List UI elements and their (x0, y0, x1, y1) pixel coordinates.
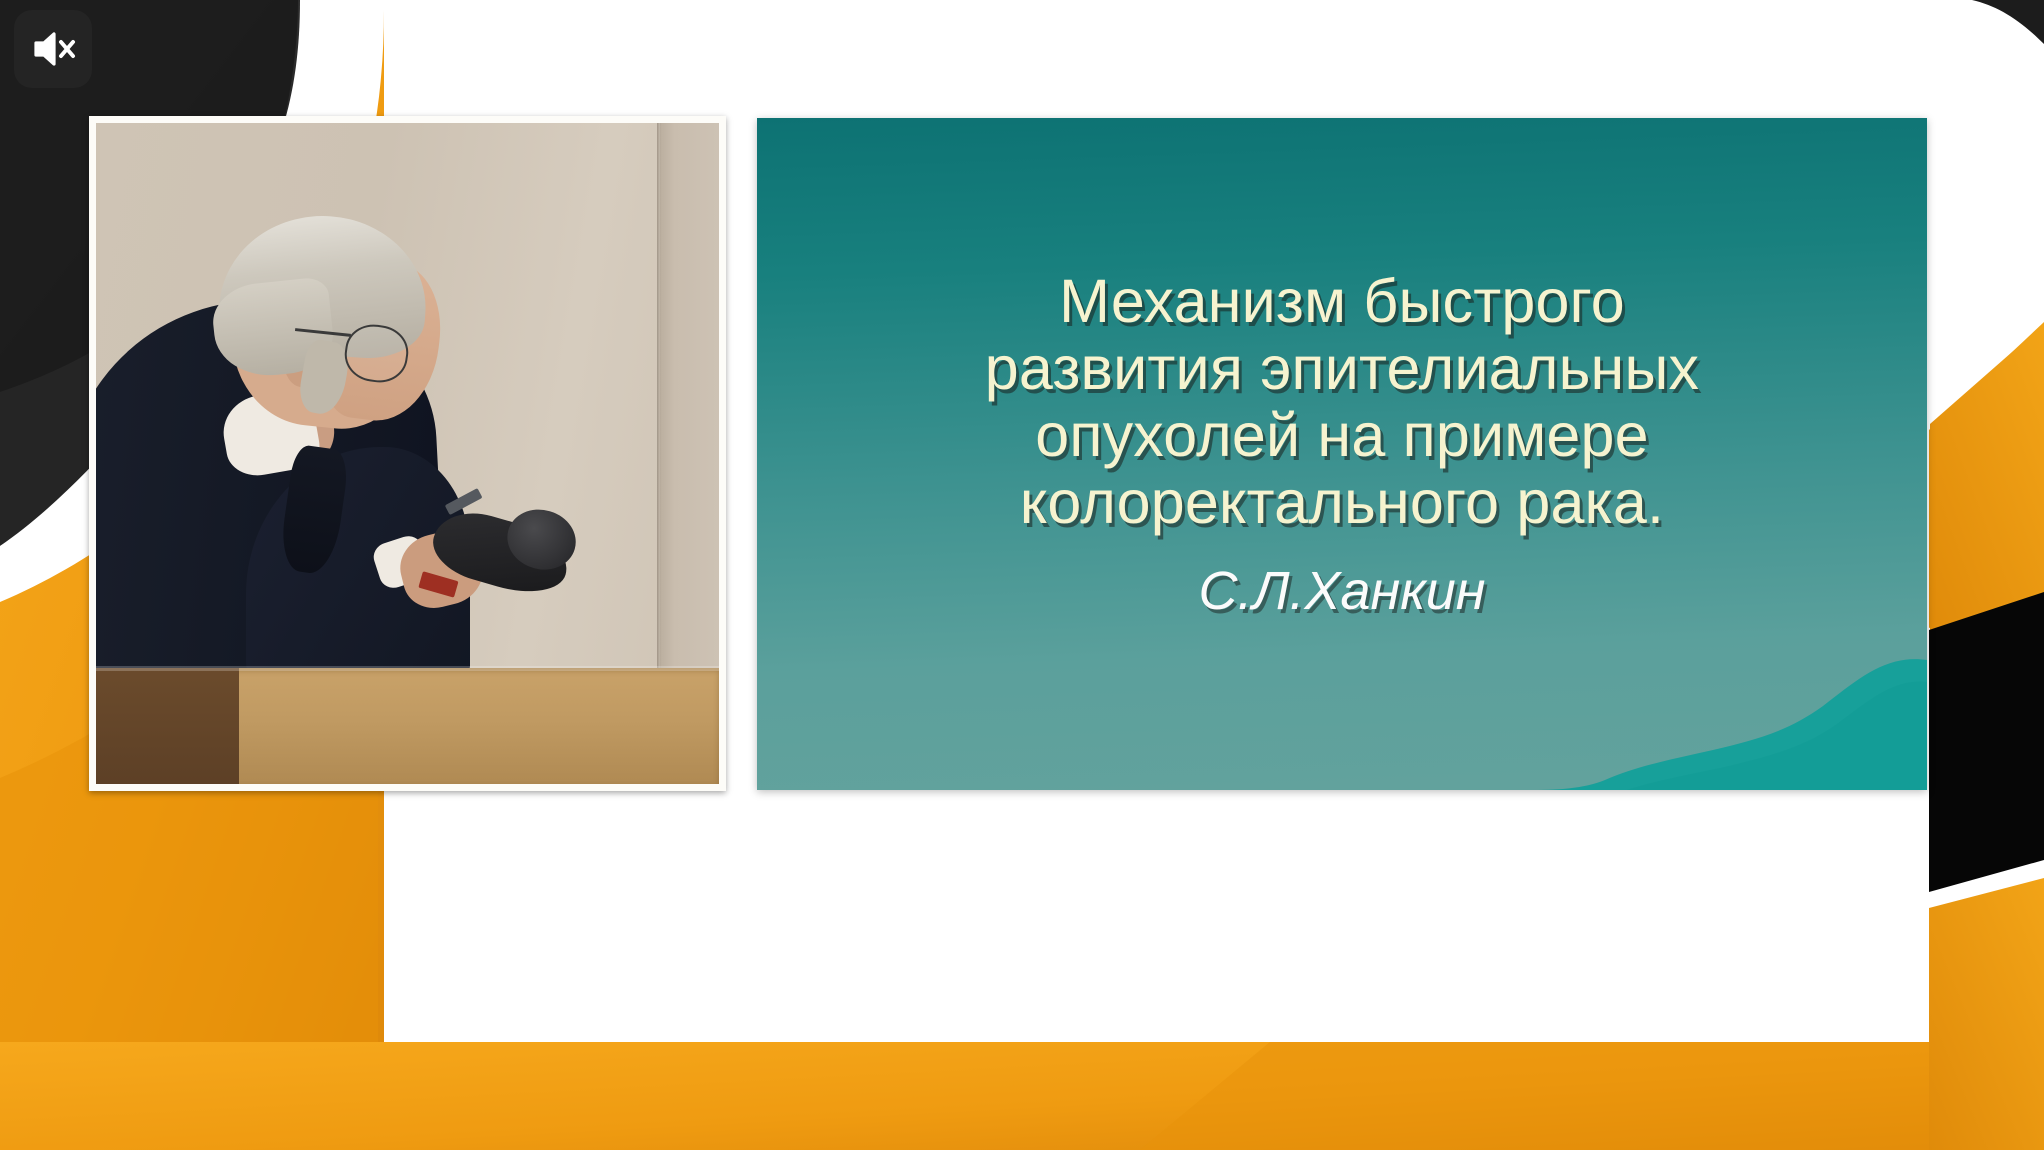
decor-black-right-band (1929, 592, 2044, 892)
slide-title-line: Механизм быстрого (815, 268, 1869, 335)
presentation-slide: Механизм быстрого развития эпителиальных… (757, 118, 1927, 790)
photo-podium-edge (96, 666, 719, 671)
speaker-photograph (96, 123, 719, 784)
decor-black-topright (1972, 0, 2044, 44)
slide-author: С.Л.Ханкин (757, 560, 1927, 622)
slide-viewer: Механизм быстрого развития эпителиальных… (0, 0, 2044, 1150)
mute-toggle-button[interactable] (14, 10, 92, 88)
speaker-muted-icon (30, 29, 76, 69)
slide-title-line: опухолей на примере (815, 402, 1869, 469)
decor-right-orange-2 (1929, 322, 2044, 628)
decor-orange-bottom-shade (1140, 1042, 2044, 1150)
decor-orange-right-lower (1929, 878, 2044, 1150)
slide-title: Механизм быстрого развития эпителиальных… (815, 268, 1869, 536)
photo-frame (89, 116, 726, 791)
photo-podium-side (96, 668, 239, 784)
slide-title-line: развития эпителиальных (815, 335, 1869, 402)
slide-text-block: Механизм быстрого развития эпителиальных… (757, 268, 1927, 622)
speaker-photo-card (89, 116, 726, 791)
slide-title-line: колоректального рака. (815, 469, 1869, 536)
slide-accent-shape (1487, 620, 1927, 790)
